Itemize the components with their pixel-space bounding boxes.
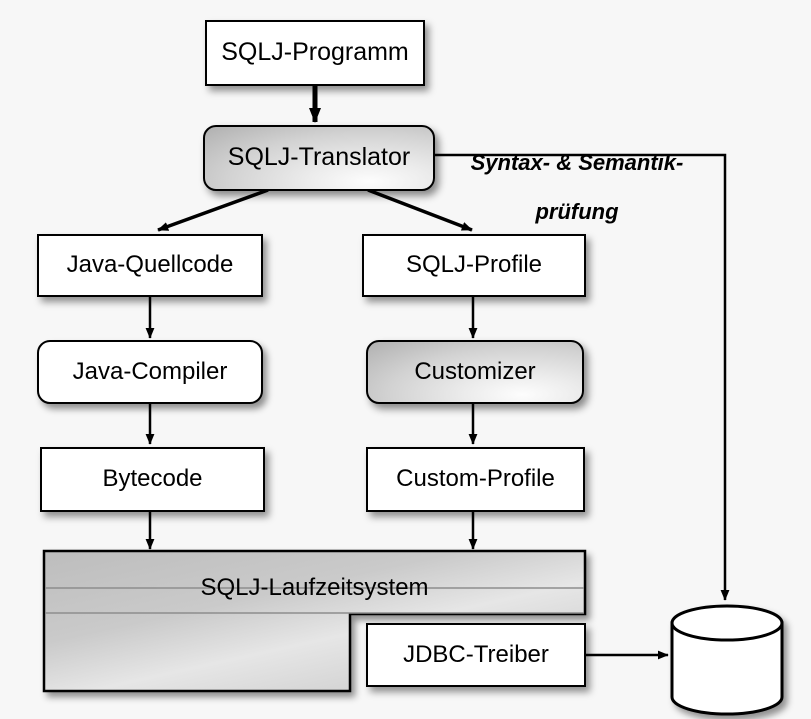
- annotation-syntax-semantik-pruefung: Syntax- & Semantik- prüfung: [452, 126, 702, 249]
- node-jdbc-treiber[interactable]: JDBC-Treiber: [366, 623, 586, 687]
- annotation-line-2: prüfung: [452, 200, 702, 225]
- node-sqlj-translator[interactable]: SQLJ-Translator: [203, 125, 435, 191]
- node-customizer[interactable]: Customizer: [366, 340, 584, 404]
- node-bytecode-label: Bytecode: [102, 466, 202, 492]
- node-java-compiler-label: Java-Compiler: [73, 359, 228, 385]
- node-jdbc-treiber-label: JDBC-Treiber: [403, 642, 549, 668]
- node-java-compiler[interactable]: Java-Compiler: [37, 340, 263, 404]
- node-database[interactable]: [672, 606, 782, 714]
- node-java-quellcode[interactable]: Java-Quellcode: [37, 234, 263, 297]
- node-sqlj-profile-label: SQLJ-Profile: [406, 252, 542, 278]
- node-custom-profile-label: Custom-Profile: [396, 466, 555, 492]
- node-customizer-label: Customizer: [414, 359, 535, 385]
- node-sqlj-laufzeitsystem-label: SQLJ-Laufzeitsystem: [200, 574, 428, 602]
- node-sqlj-translator-label: SQLJ-Translator: [228, 144, 410, 172]
- node-sqlj-programm[interactable]: SQLJ-Programm: [205, 20, 425, 86]
- node-custom-profile[interactable]: Custom-Profile: [366, 447, 585, 512]
- node-java-quellcode-label: Java-Quellcode: [67, 252, 234, 278]
- diagram-canvas: SQLJ-Programm SQLJ-Translator Syntax- & …: [0, 0, 811, 719]
- annotation-line-1: Syntax- & Semantik-: [452, 151, 702, 176]
- node-sqlj-programm-label: SQLJ-Programm: [221, 39, 409, 67]
- edge-translator-to-quellcode: [158, 190, 268, 230]
- node-bytecode[interactable]: Bytecode: [40, 447, 265, 512]
